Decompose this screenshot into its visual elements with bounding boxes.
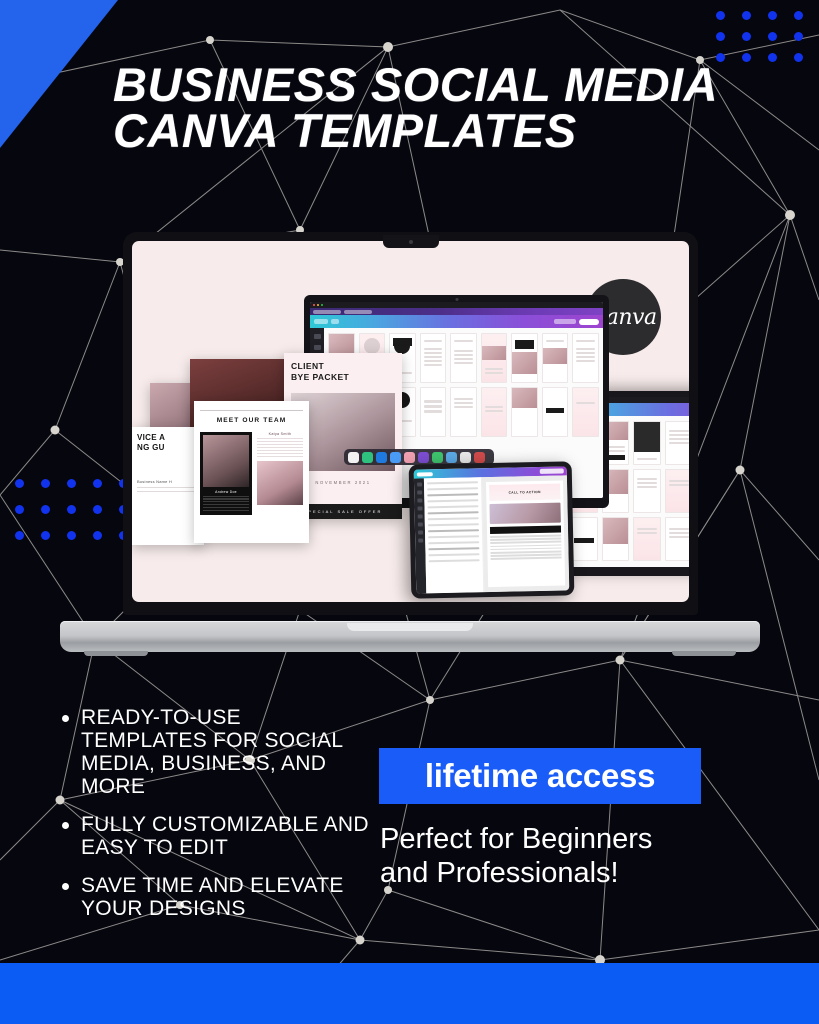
guide-card-heading: VICE A NG GU [137,433,199,453]
tablet-mockup: CALL TO ACTION [409,461,575,598]
list-item: FULLY CUSTOMIZABLE AND EASY TO EDIT [62,813,372,859]
list-item-label: SAVE TIME AND ELEVATE YOUR DESIGNS [81,874,372,920]
list-item-label: FULLY CUSTOMIZABLE AND EASY TO EDIT [81,813,372,859]
team-member-1: Andrew Doe [200,432,252,515]
doc-layers-panel [424,477,484,593]
guide-card-footer: Business Name H [137,479,199,484]
poster-canvas: BUSINESS SOCIAL MEDIA CANVA TEMPLATES Ca… [0,0,819,1024]
feature-list: READY-TO-USE TEMPLATES FOR SOCIAL MEDIA,… [62,706,372,935]
list-item: READY-TO-USE TEMPLATES FOR SOCIAL MEDIA,… [62,706,372,798]
bullet-dot-icon [62,715,69,722]
team-member-2: Katya Smith [257,432,303,515]
team-card-heading: MEET OUR TEAM [200,417,303,424]
template-team-card: MEET OUR TEAM Andrew Doe Katya Smith [194,401,309,543]
list-item: SAVE TIME AND ELEVATE YOUR DESIGNS [62,874,372,920]
lifetime-access-label: lifetime access [425,757,655,795]
bottom-accent-bar [0,963,819,1024]
doc-cta-button [490,526,561,534]
laptop-notch-icon [383,235,439,248]
dot-grid-top-right [707,5,811,68]
doc-canvas-area: CALL TO ACTION [482,475,569,592]
canva-toolbar-primary [310,315,603,328]
bullet-dot-icon [62,822,69,829]
page-title: BUSINESS SOCIAL MEDIA CANVA TEMPLATES [113,62,753,154]
laptop-lid: Canva [123,232,698,615]
client-card-heading: CLIENT BYE PACKET [291,361,395,383]
laptop-screen: Canva [132,241,689,602]
canva-doc-editor: CALL TO ACTION [414,466,570,593]
subtitle-text: Perfect for Beginners and Professionals! [380,822,720,890]
browser-tabstrip [310,308,603,315]
laptop-mockup: Canva [60,232,760,652]
doc-page-image [489,503,560,524]
lifetime-access-badge: lifetime access [379,748,701,804]
bullet-dot-icon [62,883,69,890]
doc-page-heading: CALL TO ACTION [509,490,541,495]
doc-page: CALL TO ACTION [486,480,565,587]
list-item-label: READY-TO-USE TEMPLATES FOR SOCIAL MEDIA,… [81,706,372,798]
laptop-base [60,621,760,652]
team-member-2-name: Katya Smith [257,432,303,436]
team-member-1-name: Andrew Doe [203,490,249,494]
